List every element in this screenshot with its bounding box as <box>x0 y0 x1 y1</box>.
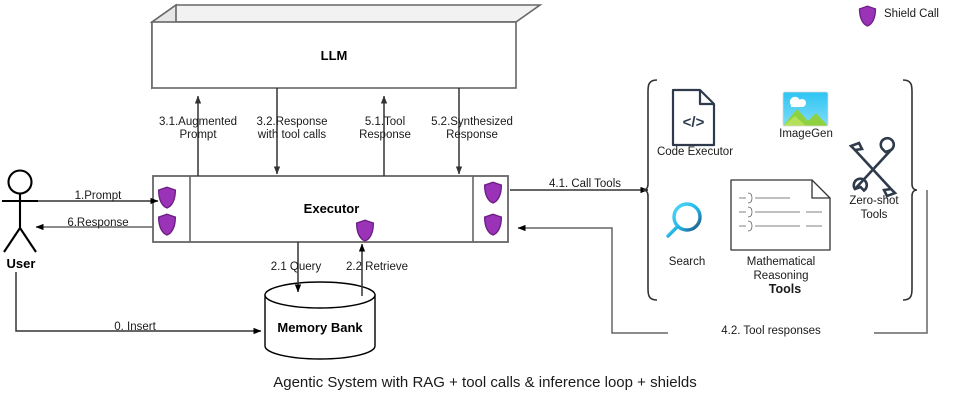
svg-text:</>: </> <box>683 114 705 131</box>
tool-label-imagegen: ImageGen <box>764 128 848 142</box>
tool-label-math-reasoning: Mathematical Reasoning <box>735 256 827 283</box>
edge-label-tool-responses: 4.2. Tool responses <box>668 325 874 338</box>
magnifier-icon <box>668 204 700 236</box>
edge-label-synthesized-response: 5.2.Synthesized Response <box>414 116 530 142</box>
edge-label-call-tools: 4.1. Call Tools <box>530 178 640 191</box>
tools-group-label: Tools <box>730 283 840 297</box>
memory-bank-label: Memory Bank <box>265 320 375 335</box>
tool-label-search: Search <box>655 256 719 270</box>
user-figure <box>2 171 38 253</box>
diagram-canvas: </> <box>0 0 970 411</box>
edge-label-query: 2.1 Query <box>258 261 334 274</box>
edge-label-response-with-tool-calls: 3.2.Response with tool calls <box>232 116 352 142</box>
code-document-icon: </> <box>673 90 714 145</box>
tool-label-zero-shot: Zero-shot Tools <box>836 195 912 222</box>
executor-label: Executor <box>190 201 473 216</box>
llm-box <box>152 5 540 88</box>
tool-label-code-executor: Code Executor <box>650 146 740 160</box>
tools-bracket-right <box>903 80 917 300</box>
shield-icon-legend <box>859 6 875 26</box>
legend-shield-label: Shield Call <box>884 8 939 20</box>
user-label: User <box>0 256 42 271</box>
diagram-caption: Agentic System with RAG + tool calls & i… <box>0 374 970 391</box>
llm-label: LLM <box>152 48 516 63</box>
crossed-tools-icon <box>851 138 895 196</box>
formula-document-icon <box>731 180 830 250</box>
edge-label-prompt: 1.Prompt <box>58 190 138 203</box>
image-icon <box>783 92 828 126</box>
edge-label-retrieve: 2.2 Retrieve <box>334 261 420 274</box>
edge-label-insert: 0. Insert <box>92 321 178 334</box>
edge-label-response: 6.Response <box>52 217 144 230</box>
